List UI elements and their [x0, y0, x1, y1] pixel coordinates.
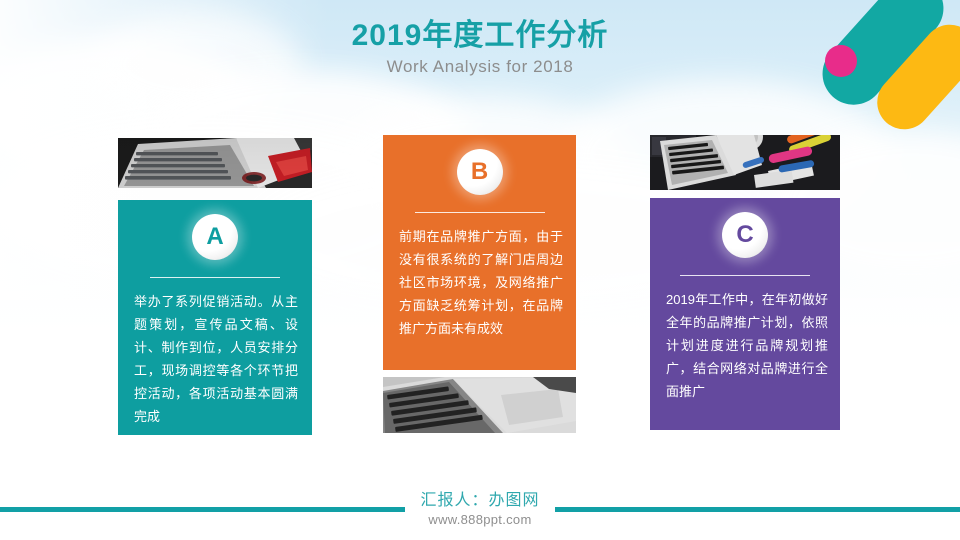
footer-presenter: 汇报人：办图网	[0, 491, 960, 511]
card-c-panel: C 2019年工作中，在年初做好全年的品牌推广计划，依照计划进度进行品牌规划推广…	[650, 198, 840, 430]
card-a-badge: A	[192, 214, 238, 260]
card-a-letter: A	[206, 225, 223, 249]
card-b-text: 前期在品牌推广方面，由于没有很系统的了解门店周边社区市场环境，及网络推广方面缺乏…	[399, 225, 563, 340]
card-b-letter: B	[471, 160, 488, 184]
card-a-divider	[150, 277, 280, 278]
page-subtitle: Work Analysis for 2018	[0, 56, 960, 78]
card-b-badge: B	[457, 149, 503, 195]
laptop-markers-desk-icon	[650, 135, 840, 190]
card-c-photo	[650, 135, 840, 190]
slide-title-block: 2019年度工作分析 Work Analysis for 2018	[0, 18, 960, 78]
slide-canvas: 2019年度工作分析 Work Analysis for 2018	[0, 0, 960, 540]
card-c-text: 2019年工作中，在年初做好全年的品牌推广计划，依照计划进度进行品牌规划推广，结…	[666, 288, 828, 403]
card-b-panel: B 前期在品牌推广方面，由于没有很系统的了解门店周边社区市场环境，及网络推广方面…	[383, 135, 576, 370]
card-c-badge: C	[722, 212, 768, 258]
page-title: 2019年度工作分析	[0, 18, 960, 54]
card-b-photo	[383, 377, 576, 433]
card-a-photo	[118, 138, 312, 188]
card-a-text: 举办了系列促销活动。从主题策划，宣传品文稿、设计、制作到位，人员安排分工，现场调…	[134, 290, 298, 428]
footer-block: 汇报人：办图网 www.888ppt.com	[0, 491, 960, 528]
card-c-divider	[680, 275, 810, 276]
laptop-keyboard-grayscale-icon	[383, 377, 576, 433]
card-b-divider	[415, 212, 545, 213]
footer-url: www.888ppt.com	[0, 511, 960, 528]
card-c-letter: C	[736, 223, 753, 247]
card-a-panel: A 举办了系列促销活动。从主题策划，宣传品文稿、设计、制作到位，人员安排分工，现…	[118, 200, 312, 435]
laptop-keyboard-red-glasses-icon	[118, 138, 312, 188]
